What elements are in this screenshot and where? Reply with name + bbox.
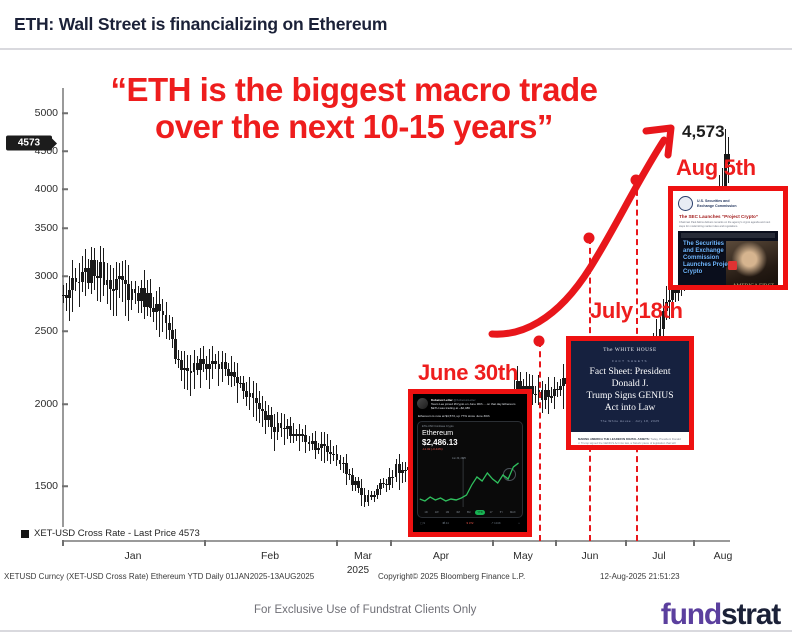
x-tick-label: Mar: [354, 550, 372, 562]
candle-wick: [324, 432, 325, 462]
candle-wick: [287, 419, 288, 439]
whitehouse-title-line-1: Fact Sheet: President Donald J.: [579, 366, 681, 390]
thumbnail-sec-project-crypto[interactable]: U.S. Securities and Exchange Commission …: [668, 186, 788, 290]
candle-wick: [299, 424, 300, 452]
y-tick-label: 3500: [0, 222, 58, 234]
range-6m[interactable]: 6M: [464, 510, 473, 515]
x-tick-mark: [625, 540, 627, 546]
x-tick-label: Apr: [433, 550, 449, 562]
range-ytd[interactable]: YTD: [475, 510, 485, 515]
quote-asset-name: Ethereum: [418, 428, 522, 437]
candle-body: [357, 481, 360, 488]
range-selector[interactable]: 1D 1W 1M 3M 6M YTD 1Y 5Y MAX: [418, 507, 522, 517]
x-tick-label: May: [513, 550, 533, 562]
candle-body: [109, 280, 112, 290]
quote-change: -11.02 (-0.44%): [418, 447, 522, 453]
sec-video-footer: SEC.GOV: [681, 287, 699, 290]
quote-chart-marker: Jun 30, 2025: [452, 457, 466, 460]
whitehouse-brand: The WHITE HOUSE: [579, 347, 681, 353]
candle-wick: [284, 414, 285, 445]
y-tick-label: 4000: [0, 183, 58, 195]
range-max[interactable]: MAX: [507, 510, 518, 515]
candle-wick: [253, 381, 254, 418]
range-1w[interactable]: 1W: [432, 510, 441, 515]
thumbnail-tweet-ethereum[interactable]: Kobeissi Letter @KobeissiLetter Team Lee…: [408, 389, 532, 537]
like-action[interactable]: ♥ 372: [466, 521, 473, 525]
candle-wick: [386, 479, 387, 492]
candle-body: [317, 448, 320, 450]
candle-body: [345, 463, 348, 474]
tweet-quote-card[interactable]: ETH-USD Coinbase Crypto Ethereum $2,486.…: [417, 421, 523, 518]
tweet-author-block: Kobeissi Letter @KobeissiLetter Team Lee…: [431, 398, 523, 411]
slide-root: ETH: Wall Street is financializing on Et…: [0, 0, 792, 632]
candle-body: [270, 415, 273, 427]
sec-video-topbar: [681, 233, 775, 238]
x-tick-mark: [204, 540, 206, 546]
view-count: 104K: [494, 521, 501, 525]
sec-video-overlay-text: The Securities and Exchange Commission L…: [683, 241, 735, 276]
whitehouse-title-line-2: Trump Signs GENIUS Act into Law: [579, 390, 681, 414]
quote-price: $2,486.13: [418, 437, 522, 447]
x-tick-mark: [336, 540, 338, 546]
bookmark-icon[interactable]: □: [518, 521, 520, 525]
candle-body: [360, 488, 363, 495]
sec-header: U.S. Securities and Exchange Commission: [673, 191, 783, 213]
candle-wick: [343, 457, 344, 473]
x-tick-mark: [555, 540, 557, 546]
candle-body: [550, 396, 553, 397]
candle-wick: [69, 276, 70, 322]
views-action[interactable]: ↗ 104K: [491, 521, 501, 525]
y-tick-label: 3000: [0, 270, 58, 282]
candle-wick: [187, 355, 188, 389]
sec-subtext: Chairman Paul Atkins delivers remarks on…: [673, 221, 783, 231]
whitehouse-title: Fact Sheet: President Donald J. Trump Si…: [579, 366, 681, 414]
tweet-caption: Ethereum is now at $4,573, up 77% since …: [418, 414, 522, 418]
x-tick-label: Jan: [125, 550, 142, 562]
candle-wick: [85, 249, 86, 296]
annotation-aug-5: Aug 5th: [676, 155, 756, 181]
candle-body: [373, 495, 376, 497]
candle-body: [165, 315, 168, 323]
candle-wick: [113, 268, 114, 316]
fundstrat-logo: fundstrat: [661, 598, 780, 632]
sec-video-watermark: AMERICA FIRST: [733, 283, 774, 289]
retweet-action[interactable]: ⇄ 44: [443, 521, 449, 525]
x-tick-label: Jul: [652, 550, 665, 562]
candle-wick: [274, 414, 275, 451]
y-tick-label: 1500: [0, 480, 58, 492]
tweet-actions: ▢ 9 ⇄ 44 ♥ 372 ↗ 104K □: [417, 518, 523, 525]
sec-video-player[interactable]: The Securities and Exchange Commission L…: [678, 231, 778, 290]
reply-action[interactable]: ▢ 9: [420, 521, 425, 525]
range-5y[interactable]: 5Y: [497, 510, 505, 515]
quote-mini-chart: Jun 30, 2025: [418, 455, 522, 507]
candle-body: [168, 323, 171, 330]
range-3m[interactable]: 3M: [454, 510, 463, 515]
x-axis-year-label: 2025: [347, 565, 369, 576]
bloomberg-footer-center: Copyright© 2025 Bloomberg Finance L.P.: [378, 572, 525, 581]
thumbnail-whitehouse-genius-act[interactable]: The WHITE HOUSE FACT SHEETS Fact Sheet: …: [566, 336, 694, 450]
like-count: 372: [469, 521, 474, 525]
x-tick-mark: [62, 540, 64, 546]
candle-wick: [237, 363, 238, 403]
whitehouse-hero: The WHITE HOUSE FACT SHEETS Fact Sheet: …: [571, 341, 689, 432]
tweet-header: Kobeissi Letter @KobeissiLetter Team Lee…: [417, 398, 523, 411]
sec-headline: The SEC Launches “Project Crypto”: [673, 213, 783, 221]
candle-body: [376, 489, 379, 494]
sec-org-line-2: Exchange Commission: [697, 204, 737, 208]
candle-wick: [97, 260, 98, 301]
y-tick-label: 2500: [0, 325, 58, 337]
reply-count: 9: [423, 521, 425, 525]
legend-label: XET-USD Cross Rate - Last Price 4573: [34, 528, 200, 539]
retweet-count: 44: [446, 521, 449, 525]
candle-wick: [262, 396, 263, 427]
candle-wick: [405, 462, 406, 483]
last-value-annotation: 4,573: [682, 122, 725, 142]
candle-body: [149, 293, 152, 308]
logo-strat: strat: [721, 598, 780, 631]
candle-wick: [159, 287, 160, 337]
x-tick-label: Feb: [261, 550, 279, 562]
logo-fund: fund: [661, 598, 721, 631]
y-tick-label: 2000: [0, 398, 58, 410]
candle-body: [115, 279, 118, 290]
candle-body: [304, 435, 307, 442]
headline-line-2: over the next 10-15 years”: [34, 109, 674, 146]
tweet-card: Kobeissi Letter @KobeissiLetter Team Lee…: [413, 394, 527, 532]
candle-wick: [125, 260, 126, 316]
candle-wick: [392, 470, 393, 487]
candle-body: [93, 260, 96, 276]
candle-body: [68, 290, 71, 298]
candle-wick: [293, 423, 294, 443]
title-divider: [0, 48, 792, 50]
whitehouse-kicker: FACT SHEETS: [579, 359, 681, 363]
candle-body: [174, 339, 177, 359]
candle-wick: [79, 263, 80, 307]
candle-body: [171, 330, 174, 339]
candle-body: [158, 304, 161, 311]
candle-body: [242, 383, 245, 391]
sec-org-name: U.S. Securities and Exchange Commission: [697, 199, 737, 208]
event-guide-june-30: [539, 341, 541, 541]
page-title: ETH: Wall Street is financializing on Et…: [14, 14, 387, 35]
bloomberg-footer-right: 12-Aug-2025 21:51:23: [600, 572, 680, 581]
footer-disclaimer: For Exclusive Use of Fundstrat Clients O…: [254, 604, 476, 616]
x-axis-line: [62, 540, 730, 542]
headline-line-1: “ETH is the biggest macro trade: [34, 72, 674, 109]
whitehouse-lead-bold: MAKING AMERICA THE LEADER IN DIGITAL ASS…: [578, 437, 650, 441]
legend-swatch-icon: [21, 530, 29, 538]
whitehouse-lead: MAKING AMERICA THE LEADER IN DIGITAL ASS…: [578, 437, 682, 450]
sec-seal-icon: [678, 196, 693, 211]
x-tick-label: Aug: [714, 550, 733, 562]
range-1m[interactable]: 1M: [443, 510, 452, 515]
candle-body: [559, 386, 562, 389]
whitehouse-meta: The White House · July 18, 2025: [579, 419, 681, 423]
bloomberg-footer-left: XETUSD Curncy (XET-USD Cross Rate) Ether…: [4, 572, 314, 581]
chart-legend: XET-USD Cross Rate - Last Price 4573: [18, 527, 203, 540]
candle-wick: [551, 387, 552, 404]
candle-body: [78, 282, 81, 283]
candle-body: [81, 272, 84, 282]
annotation-june-30: June 30th: [418, 360, 518, 386]
whitehouse-body: MAKING AMERICA THE LEADER IN DIGITAL ASS…: [571, 432, 689, 450]
headline-quote: “ETH is the biggest macro trade over the…: [34, 72, 674, 146]
tweet-text: Team Lee joined #Crypto on June 30th ...…: [431, 402, 523, 410]
x-tick-mark: [390, 540, 392, 546]
candle-wick: [190, 355, 191, 396]
sec-video-badge-icon: [728, 261, 737, 270]
x-tick-mark: [693, 540, 695, 546]
x-tick-label: Jun: [582, 550, 599, 562]
annotation-july-18: July 18th: [590, 298, 683, 324]
candle-wick: [122, 261, 123, 302]
candle-body: [208, 364, 211, 369]
avatar: [417, 398, 428, 409]
x-tick-mark: [492, 540, 494, 546]
candle-body: [224, 362, 227, 369]
range-1d[interactable]: 1D: [422, 510, 430, 515]
candle-wick: [119, 263, 120, 298]
range-1y[interactable]: 1Y: [487, 510, 495, 515]
candle-wick: [162, 299, 163, 332]
